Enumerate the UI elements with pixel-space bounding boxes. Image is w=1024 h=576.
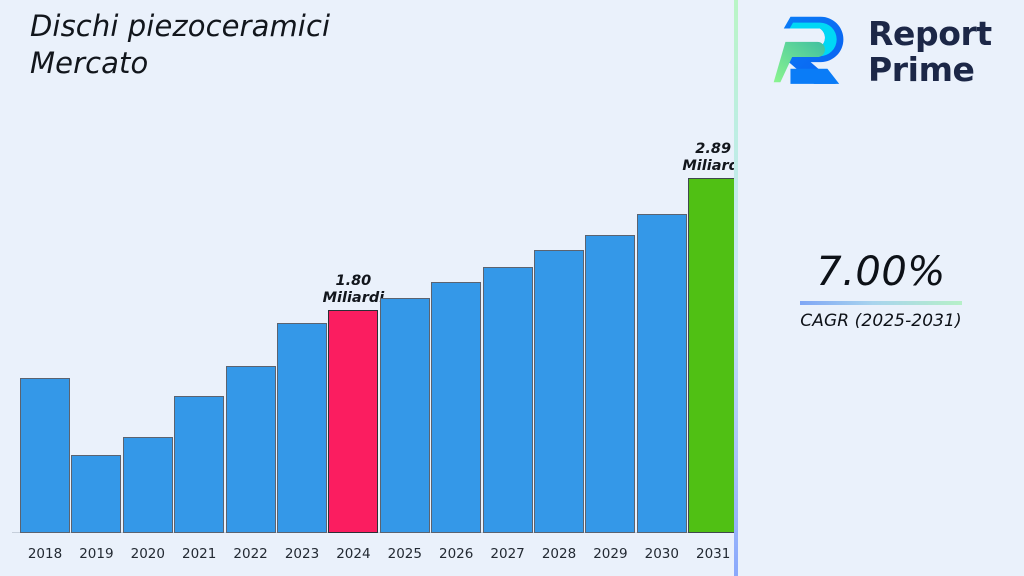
bar-2030[interactable] xyxy=(637,214,687,533)
brand-logo[interactable]: Report Prime xyxy=(772,10,992,94)
bar-2031[interactable] xyxy=(688,178,738,533)
bar-group: 2026 xyxy=(431,0,481,576)
bar-2024[interactable] xyxy=(328,310,378,533)
bar-2025[interactable] xyxy=(380,298,430,533)
bar-2018[interactable] xyxy=(20,378,70,533)
bar-2019[interactable] xyxy=(71,455,121,533)
bar-group: 1.80 Miliardi2024 xyxy=(328,0,378,576)
bar-group: 2020 xyxy=(123,0,173,576)
bar-2029[interactable] xyxy=(585,235,635,533)
screenshot-root: Dischi piezoceramici Mercato 20182019202… xyxy=(0,0,1024,576)
bar-group: 2030 xyxy=(637,0,687,576)
bar-group: 2025 xyxy=(380,0,430,576)
bar-group: 2028 xyxy=(534,0,584,576)
bar-2027[interactable] xyxy=(483,267,533,533)
bar-2022[interactable] xyxy=(226,366,276,533)
bar-group: 2027 xyxy=(483,0,533,576)
brand-name: Report Prime xyxy=(868,16,992,87)
cagr-caption: CAGR (2025-2031) xyxy=(738,311,1024,331)
cagr-divider-rule xyxy=(800,301,962,305)
bar-chart-plot: 2018201920202021202220231.80 Miliardi202… xyxy=(0,0,735,576)
brand-panel: Report Prime 7.00% CAGR (2025-2031) xyxy=(738,0,1024,576)
bar-group: 2021 xyxy=(174,0,224,576)
bar-2020[interactable] xyxy=(123,437,173,533)
cagr-block: 7.00% CAGR (2025-2031) xyxy=(738,250,1024,331)
bar-2026[interactable] xyxy=(431,282,481,533)
bar-group: 2019 xyxy=(71,0,121,576)
chart-panel: Dischi piezoceramici Mercato 20182019202… xyxy=(0,0,735,576)
bar-2028[interactable] xyxy=(534,250,584,533)
bar-group: 2029 xyxy=(585,0,635,576)
bar-group: 2.89 Miliardi2031 xyxy=(688,0,738,576)
cagr-value: 7.00% xyxy=(738,250,1024,294)
report-prime-logo-icon xyxy=(772,10,856,94)
bar-2023[interactable] xyxy=(277,323,327,533)
bar-2021[interactable] xyxy=(174,396,224,533)
bar-group: 2018 xyxy=(20,0,70,576)
bar-group: 2022 xyxy=(226,0,276,576)
